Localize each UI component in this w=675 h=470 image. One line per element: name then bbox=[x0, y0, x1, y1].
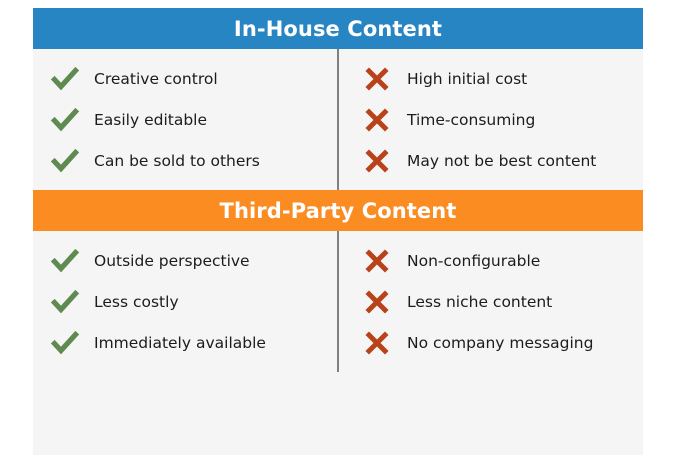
list-item: Immediately available bbox=[50, 324, 338, 362]
list-item-label: Less niche content bbox=[407, 293, 552, 311]
cross-icon bbox=[362, 246, 392, 276]
list-item: Outside perspective bbox=[50, 242, 338, 280]
list-item-label: Non-configurable bbox=[407, 252, 540, 270]
list-item-label: Time-consuming bbox=[407, 111, 535, 129]
section-title: In-House Content bbox=[234, 17, 442, 41]
list-item: Can be sold to others bbox=[50, 142, 338, 180]
list-item-label: Less costly bbox=[94, 293, 179, 311]
check-icon bbox=[50, 105, 80, 135]
section-title: Third-Party Content bbox=[220, 199, 457, 223]
check-icon bbox=[50, 64, 80, 94]
list-item-label: High initial cost bbox=[407, 70, 527, 88]
list-item: No company messaging bbox=[362, 324, 643, 362]
pros-column-in-house: Creative control Easily editable Can be … bbox=[33, 49, 338, 190]
cons-column-in-house: High initial cost Time-consuming May not… bbox=[338, 49, 643, 190]
list-item: Non-configurable bbox=[362, 242, 643, 280]
list-item-label: Immediately available bbox=[94, 334, 266, 352]
section-body-third-party: Outside perspective Less costly Immediat… bbox=[33, 231, 643, 372]
check-icon bbox=[50, 287, 80, 317]
section-header-in-house: In-House Content bbox=[33, 8, 643, 49]
check-icon bbox=[50, 146, 80, 176]
list-item-label: No company messaging bbox=[407, 334, 593, 352]
cross-icon bbox=[362, 328, 392, 358]
section-header-third-party: Third-Party Content bbox=[33, 190, 643, 231]
section-body-in-house: Creative control Easily editable Can be … bbox=[33, 49, 643, 190]
list-item-label: Can be sold to others bbox=[94, 152, 260, 170]
column-divider bbox=[337, 231, 339, 372]
list-item: Easily editable bbox=[50, 101, 338, 139]
list-item-label: Creative control bbox=[94, 70, 218, 88]
column-divider bbox=[337, 49, 339, 190]
list-item-label: May not be best content bbox=[407, 152, 596, 170]
list-item: High initial cost bbox=[362, 60, 643, 98]
cross-icon bbox=[362, 287, 392, 317]
list-item-label: Outside perspective bbox=[94, 252, 250, 270]
cross-icon bbox=[362, 146, 392, 176]
comparison-table: In-House Content Creative control Easily… bbox=[33, 8, 643, 455]
list-item: Less niche content bbox=[362, 283, 643, 321]
list-item: May not be best content bbox=[362, 142, 643, 180]
check-icon bbox=[50, 328, 80, 358]
pros-column-third-party: Outside perspective Less costly Immediat… bbox=[33, 231, 338, 372]
cons-column-third-party: Non-configurable Less niche content No c… bbox=[338, 231, 643, 372]
list-item-label: Easily editable bbox=[94, 111, 207, 129]
check-icon bbox=[50, 246, 80, 276]
list-item: Creative control bbox=[50, 60, 338, 98]
list-item: Less costly bbox=[50, 283, 338, 321]
cross-icon bbox=[362, 105, 392, 135]
cross-icon bbox=[362, 64, 392, 94]
list-item: Time-consuming bbox=[362, 101, 643, 139]
